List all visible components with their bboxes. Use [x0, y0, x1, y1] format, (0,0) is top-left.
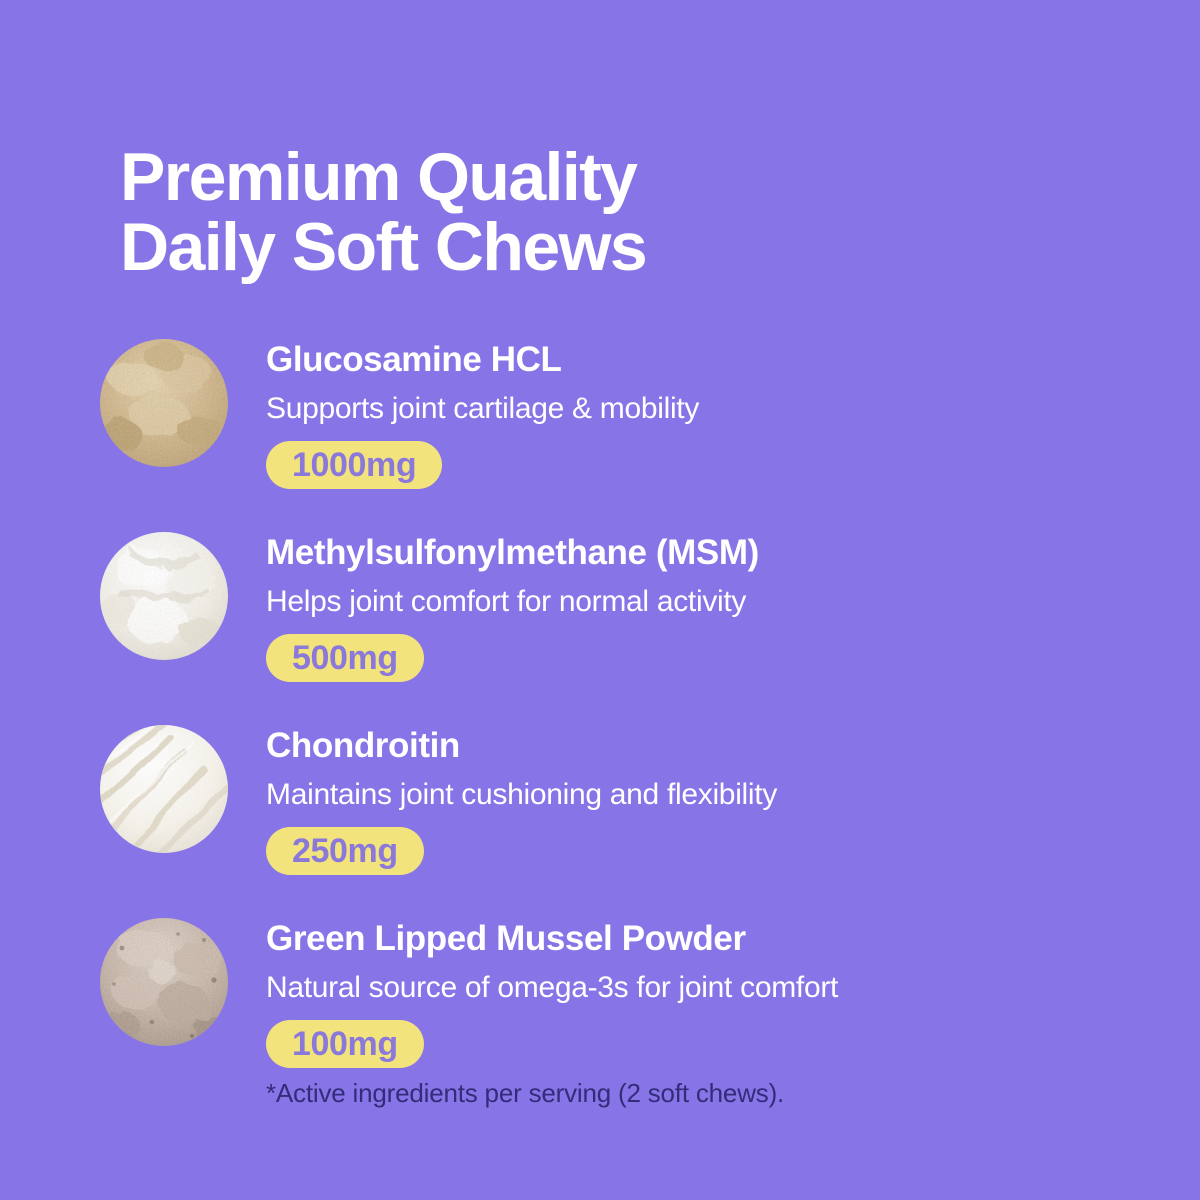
msm-powder-swatch — [100, 532, 228, 660]
ingredient-text: Chondroitin Maintains joint cushioning a… — [266, 722, 1170, 875]
glucosamine-powder-swatch — [100, 339, 228, 467]
dose-badge: 1000mg — [266, 441, 442, 489]
ingredient-description: Helps joint comfort for normal activity — [266, 570, 1170, 617]
ingredient-description: Supports joint cartilage & mobility — [266, 377, 1170, 424]
ingredient-text: Glucosamine HCL Supports joint cartilage… — [266, 336, 1170, 489]
dose-badge: 500mg — [266, 634, 424, 682]
ingredient-text: Green Lipped Mussel Powder Natural sourc… — [266, 915, 1170, 1068]
ingredient-description: Natural source of omega-3s for joint com… — [266, 956, 1170, 1003]
ingredient-row: Glucosamine HCL Supports joint cartilage… — [0, 336, 1200, 529]
ingredient-list: Glucosamine HCL Supports joint cartilage… — [0, 336, 1200, 1108]
ingredient-text: Methylsulfonylmethane (MSM) Helps joint … — [266, 529, 1170, 682]
dose-badge-wrapper: 100mg — [266, 1003, 1170, 1068]
dose-badge-wrapper: 1000mg — [266, 424, 1170, 489]
dose-badge: 100mg — [266, 1020, 424, 1068]
ingredient-name: Chondroitin — [266, 722, 1170, 763]
dose-badge: 250mg — [266, 827, 424, 875]
serving-footnote: *Active ingredients per serving (2 soft … — [266, 1078, 784, 1109]
dose-badge-wrapper: 500mg — [266, 617, 1170, 682]
chondroitin-powder-swatch — [100, 725, 228, 853]
ingredient-name: Glucosamine HCL — [266, 336, 1170, 377]
page-title-line-1: Premium Quality — [120, 142, 1020, 213]
ingredient-row: Methylsulfonylmethane (MSM) Helps joint … — [0, 529, 1200, 722]
dose-badge-wrapper: 250mg — [266, 810, 1170, 875]
product-benefits-poster: Premium Quality Daily Soft Chews — [0, 0, 1200, 1200]
ingredient-name: Methylsulfonylmethane (MSM) — [266, 529, 1170, 570]
green-lipped-mussel-powder-swatch — [100, 918, 228, 1046]
ingredient-description: Maintains joint cushioning and flexibili… — [266, 763, 1170, 810]
ingredient-row: Chondroitin Maintains joint cushioning a… — [0, 722, 1200, 915]
page-title-line-2: Daily Soft Chews — [120, 212, 1020, 283]
page-title: Premium Quality Daily Soft Chews — [120, 142, 1020, 283]
ingredient-name: Green Lipped Mussel Powder — [266, 915, 1170, 956]
